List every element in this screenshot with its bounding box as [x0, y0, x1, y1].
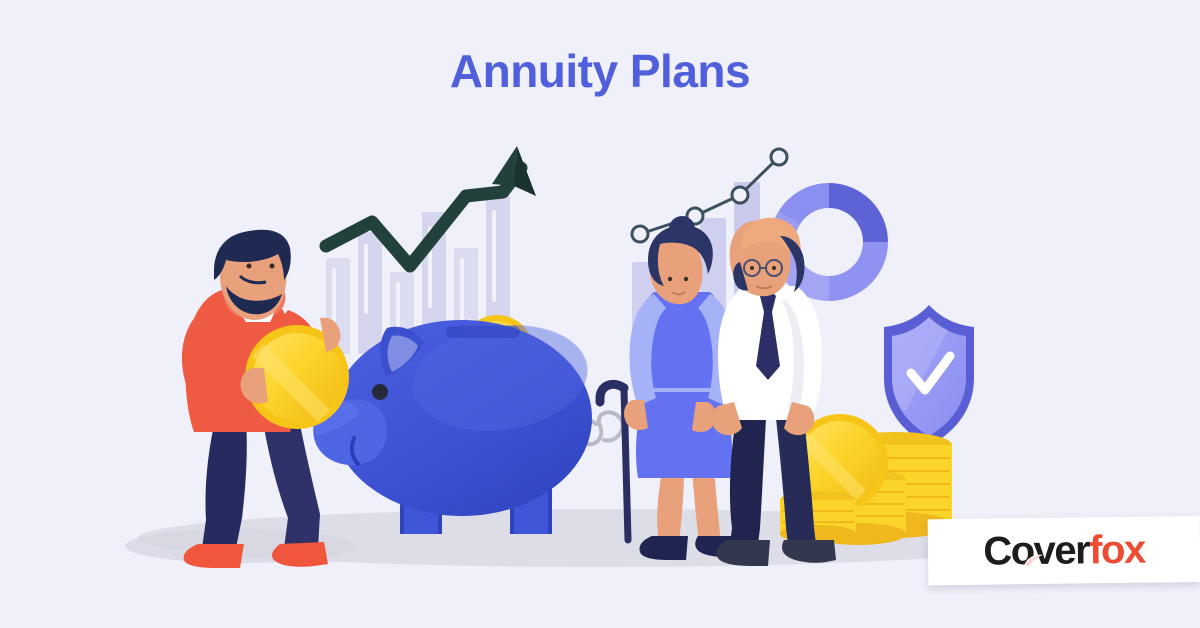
logo-word-fox: fox: [1089, 528, 1145, 573]
logo-word-cover: Cover: [983, 528, 1089, 573]
banner: Annuity Plans Coverfox: [0, 0, 1200, 628]
logo-text: Coverfox: [983, 530, 1145, 572]
page-title: Annuity Plans: [0, 44, 1200, 98]
coverfox-logo[interactable]: Coverfox: [928, 516, 1200, 585]
